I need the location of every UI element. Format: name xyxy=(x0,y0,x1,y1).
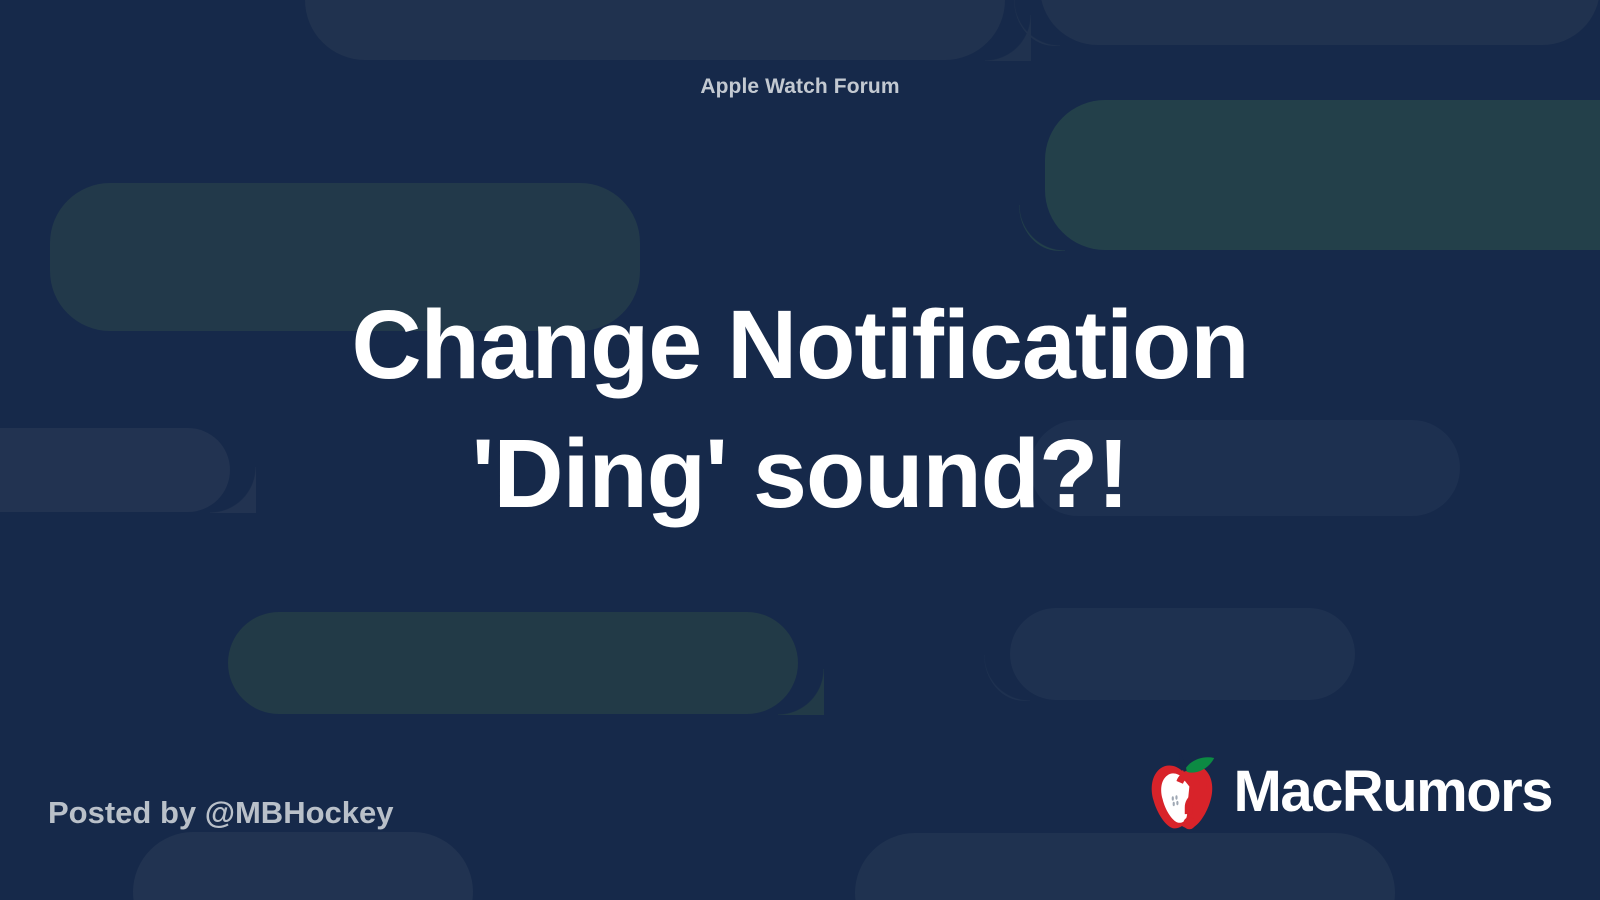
share-card: Apple Watch Forum Change Notification 'D… xyxy=(0,0,1600,900)
post-title-container: Change Notification 'Ding' sound?! xyxy=(0,73,1600,746)
card-footer: Posted by @MBHockey xyxy=(0,746,1600,900)
macrumors-logo[interactable]: MacRumors xyxy=(1136,746,1552,838)
macrumors-wordmark: MacRumors xyxy=(1234,763,1552,821)
page-title: Change Notification 'Ding' sound?! xyxy=(245,281,1355,537)
post-author-byline: Posted by @MBHockey xyxy=(48,797,393,838)
macrumors-apple-question-mark-icon xyxy=(1136,746,1228,838)
